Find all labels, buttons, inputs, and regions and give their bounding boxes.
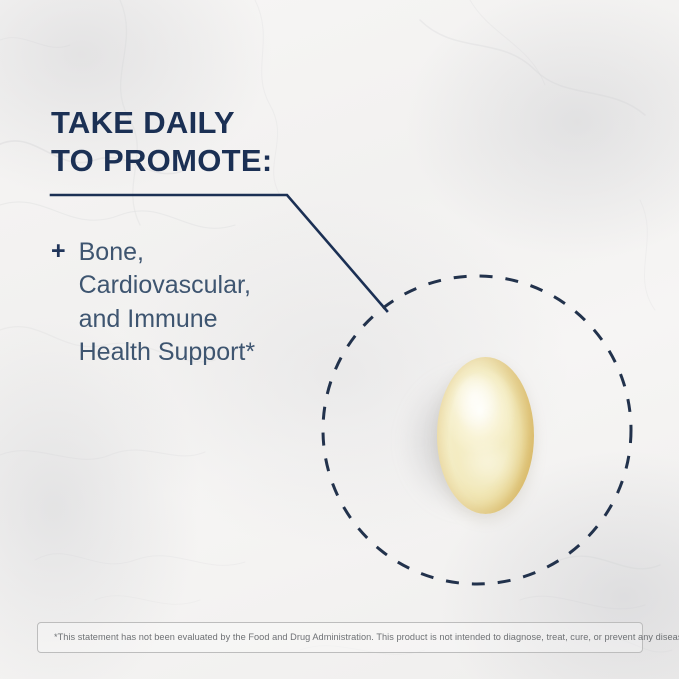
product-benefit-graphic: TAKE DAILY TO PROMOTE: + Bone, Cardiovas… [0, 0, 679, 679]
disclaimer-text: *This statement has not been evaluated b… [38, 632, 679, 643]
disclaimer-box: *This statement has not been evaluated b… [37, 622, 643, 653]
capsule-highlight [454, 376, 499, 429]
benefit-list-item: + Bone, Cardiovascular, and Immune Healt… [51, 236, 255, 369]
softgel-capsule [437, 357, 534, 514]
plus-icon: + [51, 236, 66, 264]
benefit-text: Bone, Cardiovascular, and Immune Health … [79, 236, 256, 369]
page-title: TAKE DAILY TO PROMOTE: [51, 104, 272, 180]
capsule-lower-highlight [462, 439, 514, 486]
